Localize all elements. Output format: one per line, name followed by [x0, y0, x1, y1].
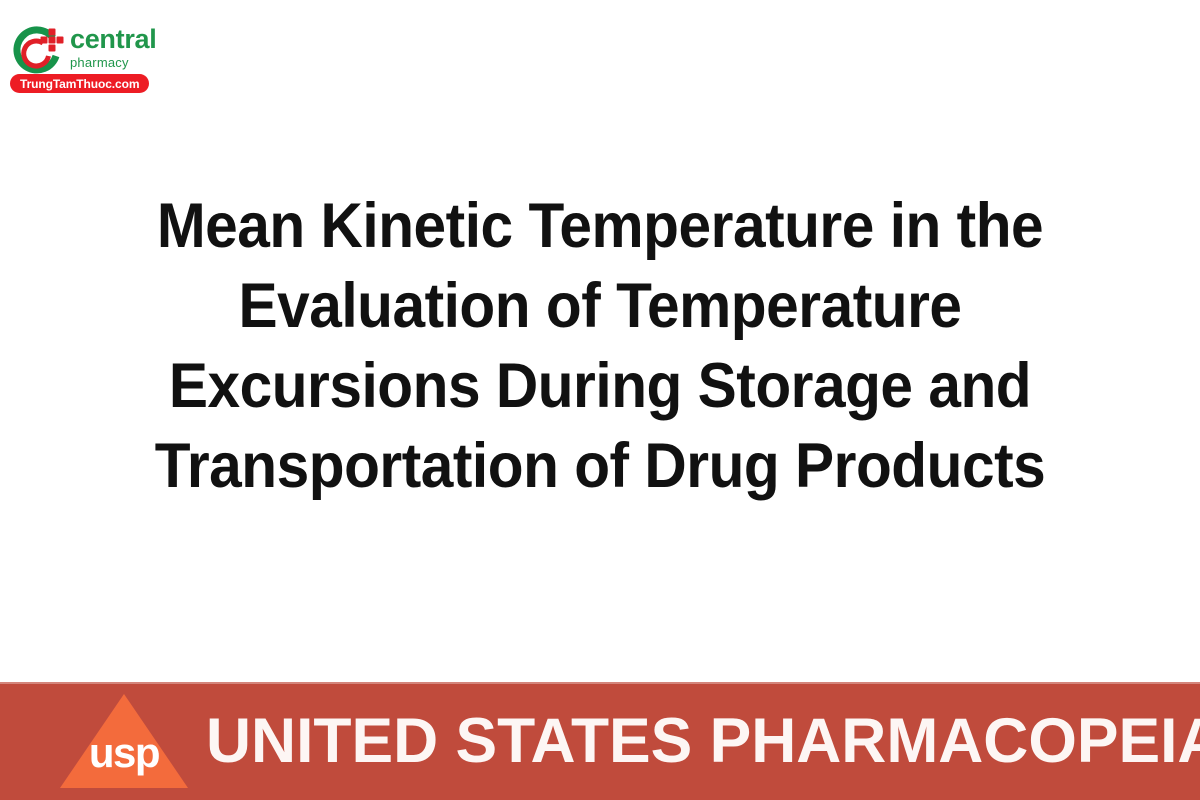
title-line-2: Evaluation of Temperature: [42, 266, 1158, 346]
title-line-4: Transportation of Drug Products: [42, 426, 1158, 506]
brand-logo[interactable]: central pharmacy TrungTamThuoc.com: [8, 20, 238, 100]
brand-subtitle: pharmacy: [70, 55, 220, 70]
title-line-3: Excursions During Storage and: [42, 346, 1158, 426]
site-url-badge[interactable]: TrungTamThuoc.com: [10, 74, 149, 93]
usp-logo-label: usp: [60, 732, 188, 774]
central-pharmacy-ring-cross-icon: [10, 26, 66, 78]
brand-name: central: [70, 24, 220, 54]
footer-bar: usp UNITED STATES PHARMACOPEIA: [0, 682, 1200, 800]
title-line-1: Mean Kinetic Temperature in the: [42, 186, 1158, 266]
page-title: Mean Kinetic Temperature in the Evaluati…: [0, 186, 1200, 506]
brand-wordmark: central pharmacy: [70, 24, 220, 80]
organization-name: UNITED STATES PHARMACOPEIA: [206, 708, 1200, 774]
page-root: central pharmacy TrungTamThuoc.com Mean …: [0, 0, 1200, 800]
usp-logo[interactable]: usp: [60, 694, 188, 788]
site-url-badge-label: TrungTamThuoc.com: [20, 78, 139, 90]
